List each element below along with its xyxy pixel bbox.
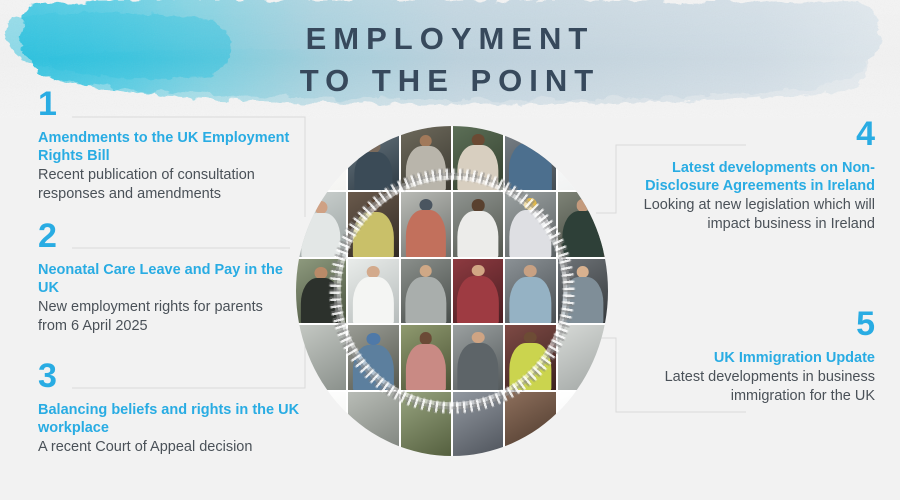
portrait-tile	[558, 392, 608, 456]
page-title: EMPLOYMENT TO THE POINT	[0, 18, 900, 102]
figure-head	[524, 265, 537, 277]
portrait-tile	[401, 192, 451, 256]
item-5-number: 5	[607, 308, 875, 340]
figure-body	[562, 277, 603, 323]
figure-body	[353, 212, 393, 257]
figure-head	[472, 265, 485, 277]
item-3-heading[interactable]: Balancing beliefs and rights in the UK w…	[38, 401, 328, 437]
title-line-2: TO THE POINT	[0, 60, 900, 102]
figure-body	[355, 152, 392, 191]
figure-body	[457, 276, 499, 323]
item-5[interactable]: 5 UK Immigration Update Latest developme…	[607, 308, 875, 406]
figure-head	[524, 198, 537, 210]
figure-body	[458, 145, 499, 191]
figure-head	[472, 199, 485, 211]
portrait-tile	[505, 126, 555, 190]
figure-head	[367, 333, 380, 345]
item-3-number: 3	[38, 360, 328, 392]
figure-body	[353, 345, 393, 390]
figure-head	[367, 266, 380, 278]
item-1-heading[interactable]: Amendments to the UK Employment Rights B…	[38, 129, 318, 165]
figure-body	[302, 213, 341, 257]
item-5-description: Latest developments in business immigrat…	[607, 368, 875, 406]
figure-head	[524, 332, 537, 344]
item-1[interactable]: 1 Amendments to the UK Employment Rights…	[38, 88, 318, 204]
figure-head	[419, 199, 432, 211]
portrait-tile	[453, 126, 503, 190]
item-4-description: Looking at new legislation which will im…	[607, 196, 875, 234]
portrait-tile	[401, 325, 451, 389]
figure-head	[472, 332, 485, 344]
mosaic-grid	[296, 126, 608, 456]
photo-mosaic-circle	[296, 126, 608, 456]
figure-body	[510, 343, 551, 389]
figure-body	[458, 343, 499, 389]
portrait-tile	[505, 192, 555, 256]
portrait-tile	[558, 325, 608, 389]
item-2-description: New employment rights for parents from 6…	[38, 298, 283, 336]
figure-body	[406, 146, 446, 190]
item-4-number: 4	[607, 118, 875, 150]
figure-head	[577, 199, 590, 211]
portrait-tile	[505, 392, 555, 456]
figure-body	[301, 278, 341, 323]
figure-body	[406, 210, 446, 256]
figure-body	[353, 277, 393, 323]
portrait-tile	[348, 392, 398, 456]
portrait-tile	[453, 259, 503, 323]
figure-body	[562, 211, 603, 257]
figure-head	[367, 200, 380, 212]
portrait-tile	[558, 259, 608, 323]
title-line-1: EMPLOYMENT	[0, 18, 900, 60]
portrait-tile	[558, 192, 608, 256]
figure-body	[406, 344, 446, 390]
figure-body	[510, 277, 551, 323]
item-3-description: A recent Court of Appeal decision	[38, 438, 328, 457]
figure-head	[524, 132, 536, 144]
item-2-heading[interactable]: Neonatal Care Leave and Pay in the UK	[38, 261, 283, 297]
item-2[interactable]: 2 Neonatal Care Leave and Pay in the UK …	[38, 220, 283, 336]
portrait-tile	[401, 259, 451, 323]
portrait-tile	[348, 325, 398, 389]
item-5-heading[interactable]: UK Immigration Update	[607, 349, 875, 367]
portrait-tile	[401, 392, 451, 456]
item-4-heading[interactable]: Latest developments on Non-Disclosure Ag…	[607, 159, 875, 195]
portrait-tile	[505, 259, 555, 323]
figure-body	[509, 143, 551, 191]
figure-body	[458, 211, 499, 257]
figure-body	[510, 210, 551, 257]
portrait-tile	[558, 126, 608, 190]
portrait-tile	[401, 126, 451, 190]
item-4[interactable]: 4 Latest developments on Non-Disclosure …	[607, 118, 875, 234]
portrait-tile	[453, 392, 503, 456]
figure-head	[577, 266, 590, 278]
portrait-tile	[296, 259, 346, 323]
portrait-tile	[348, 259, 398, 323]
figure-head	[420, 332, 433, 344]
item-2-number: 2	[38, 220, 283, 252]
portrait-tile	[348, 192, 398, 256]
portrait-tile	[453, 192, 503, 256]
portrait-tile	[505, 325, 555, 389]
portrait-tile	[348, 126, 398, 190]
figure-head	[420, 265, 433, 277]
item-1-description: Recent publication of consultation respo…	[38, 166, 318, 204]
portrait-tile	[453, 325, 503, 389]
figure-body	[405, 277, 446, 323]
item-3[interactable]: 3 Balancing beliefs and rights in the UK…	[38, 360, 328, 457]
